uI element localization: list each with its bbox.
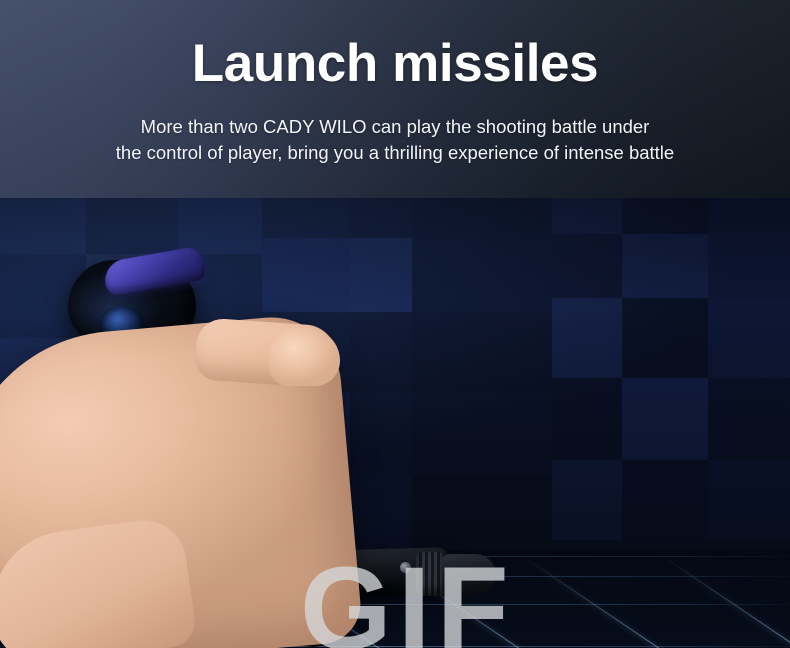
backdrop-tile [552,298,622,378]
backdrop-tile [622,298,708,378]
floor-diagonal-line [520,554,790,648]
backdrop-tile [552,378,622,460]
floor-diagonal-glow [519,554,790,648]
subtitle-line-2: the control of player, bring you a thril… [0,140,790,166]
backdrop-tile [708,198,790,234]
backdrop-tile [708,378,790,460]
backdrop-tile [622,378,708,460]
header-section: Launch missiles More than two CADY WILO … [0,0,790,198]
page-subtitle: More than two CADY WILO can play the sho… [0,114,790,166]
banner-page: Launch missiles More than two CADY WILO … [0,0,790,648]
backdrop-tile [708,460,790,540]
backdrop-tile [708,234,790,298]
gif-watermark: GIF [300,550,515,648]
hand-fingertip [268,328,340,386]
product-photo: GIF [0,198,790,648]
subtitle-line-1: More than two CADY WILO can play the sho… [0,114,790,140]
page-title: Launch missiles [0,36,790,92]
backdrop-tile [708,298,790,378]
backdrop-tile [622,460,708,540]
backdrop-tile [552,234,622,298]
backdrop-tile [552,460,622,540]
backdrop-tile [622,198,708,234]
backdrop-tile [622,234,708,298]
backdrop-tile [552,198,622,234]
